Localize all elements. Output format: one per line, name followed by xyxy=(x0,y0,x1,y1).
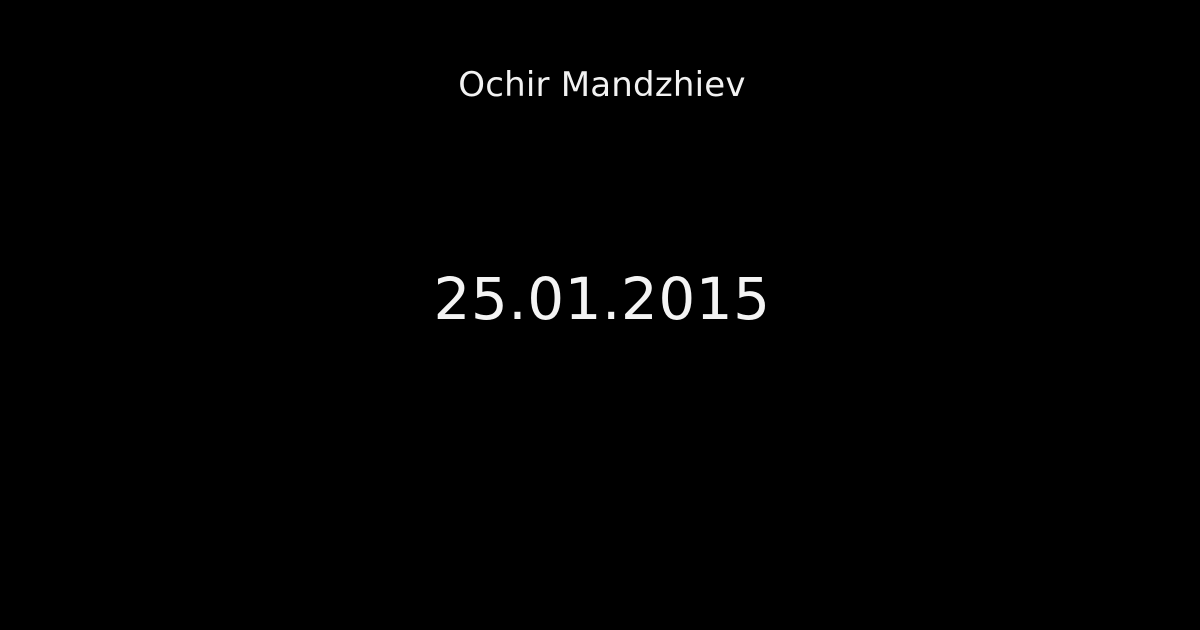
date-text: 25.01.2015 xyxy=(0,266,1200,332)
text-stack: Ochir Mandzhiev 25.01.2015 xyxy=(0,0,1200,630)
person-name: Ochir Mandzhiev xyxy=(0,63,1200,107)
title-slide: Ochir Mandzhiev 25.01.2015 xyxy=(0,0,1200,630)
